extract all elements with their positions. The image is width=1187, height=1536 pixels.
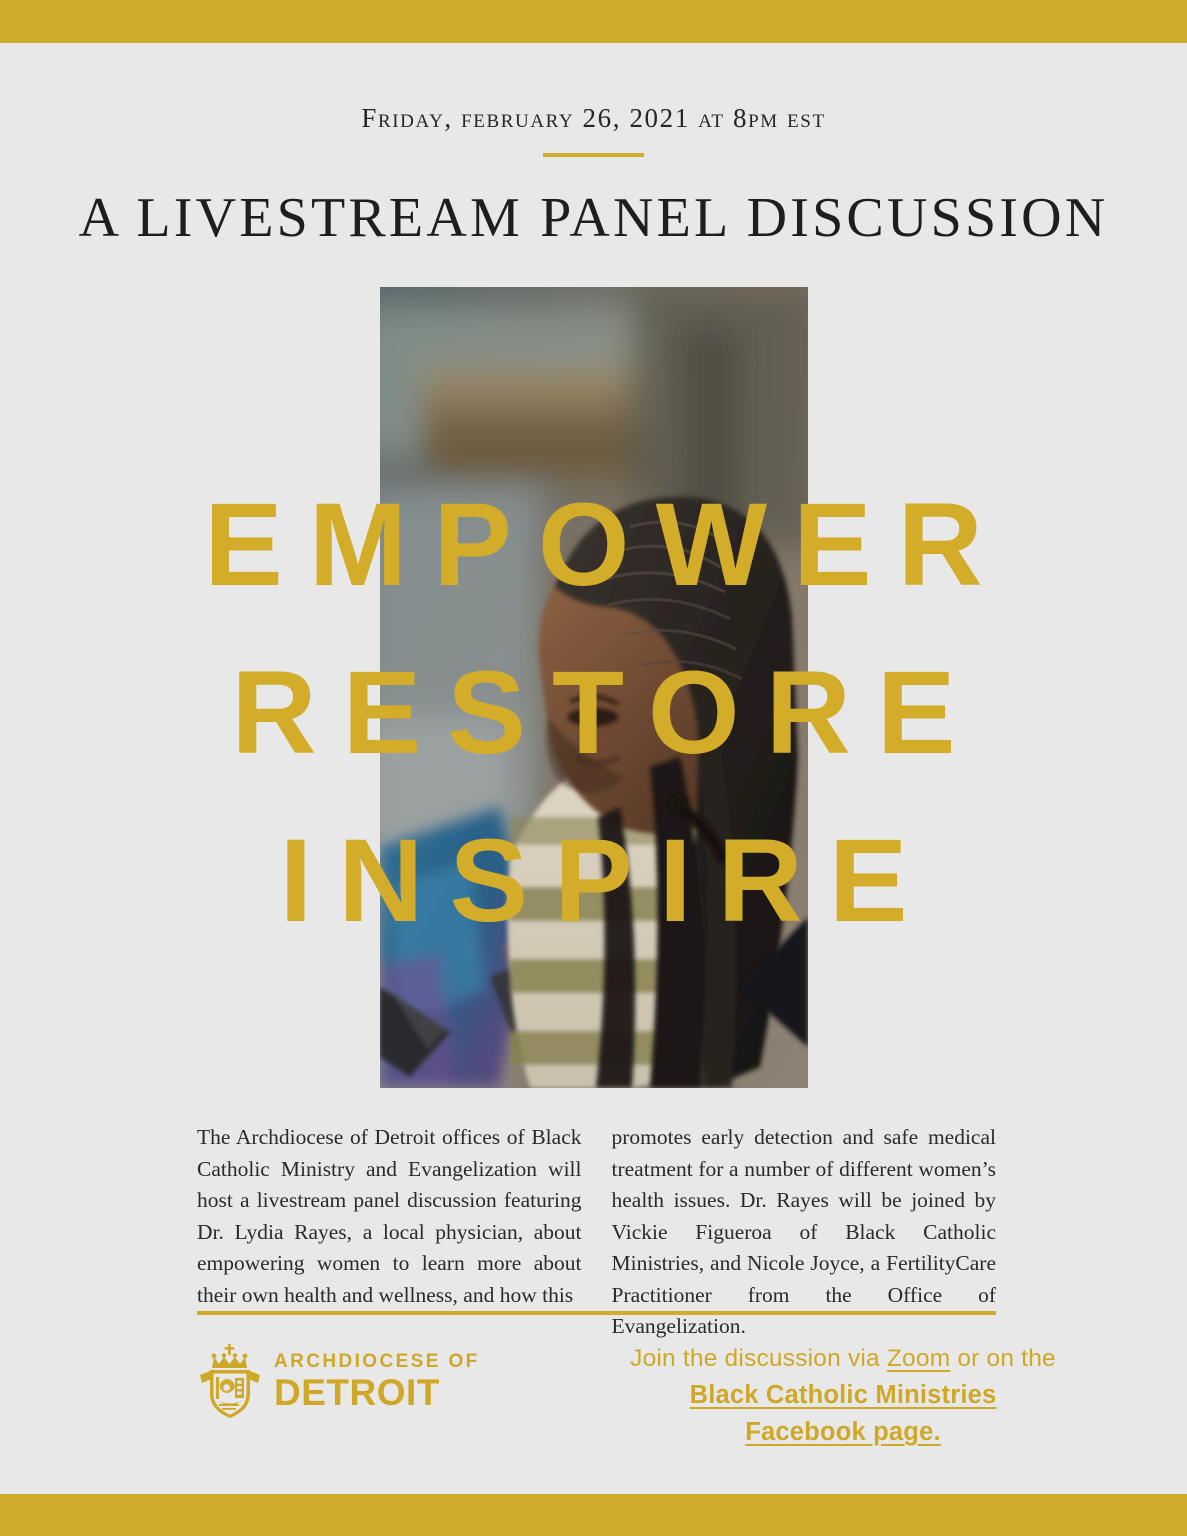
overlay-word-inspire: INSPIRE (0, 822, 1187, 940)
cta-line-1: Join the discussion via Zoom or on the (628, 1340, 1058, 1377)
cta-line-2: Black Catholic Ministries Facebook page. (628, 1377, 1058, 1451)
overlay-word-restore: RESTORE (0, 654, 1187, 772)
logo-wordmark: ARCHDIOCESE OF DETROIT (274, 1352, 480, 1411)
body-copy: The Archdiocese of Detroit offices of Bl… (197, 1122, 996, 1343)
cta-text-before: Join the discussion via (630, 1345, 887, 1372)
flyer-poster: Friday, February 26, 2021 at 8pm EST A L… (0, 0, 1187, 1536)
event-date-line: Friday, February 26, 2021 at 8pm EST (0, 103, 1187, 134)
facebook-page-link[interactable]: Black Catholic Ministries Facebook page. (690, 1381, 997, 1446)
body-paragraph-left: The Archdiocese of Detroit offices of Bl… (197, 1122, 582, 1343)
zoom-link[interactable]: Zoom (887, 1345, 950, 1372)
divider-wide (197, 1311, 996, 1315)
top-gold-band (0, 0, 1187, 43)
shield-crest-icon (197, 1342, 263, 1420)
overlay-word-empower: EMPOWER (0, 486, 1187, 604)
divider-small (543, 153, 644, 157)
call-to-action: Join the discussion via Zoom or on the B… (628, 1340, 1058, 1451)
footer: ARCHDIOCESE OF DETROIT Join the discussi… (197, 1340, 1027, 1430)
archdiocese-logo: ARCHDIOCESE OF DETROIT (197, 1342, 480, 1420)
logo-line-detroit: DETROIT (274, 1374, 480, 1411)
bottom-gold-band (0, 1494, 1187, 1536)
cta-text-after: or on the (950, 1345, 1056, 1372)
logo-line-archdiocese: ARCHDIOCESE OF (274, 1352, 480, 1371)
page-title: A LIVESTREAM PANEL DISCUSSION (0, 186, 1187, 250)
body-paragraph-right: promotes early detection and safe medica… (612, 1122, 997, 1343)
